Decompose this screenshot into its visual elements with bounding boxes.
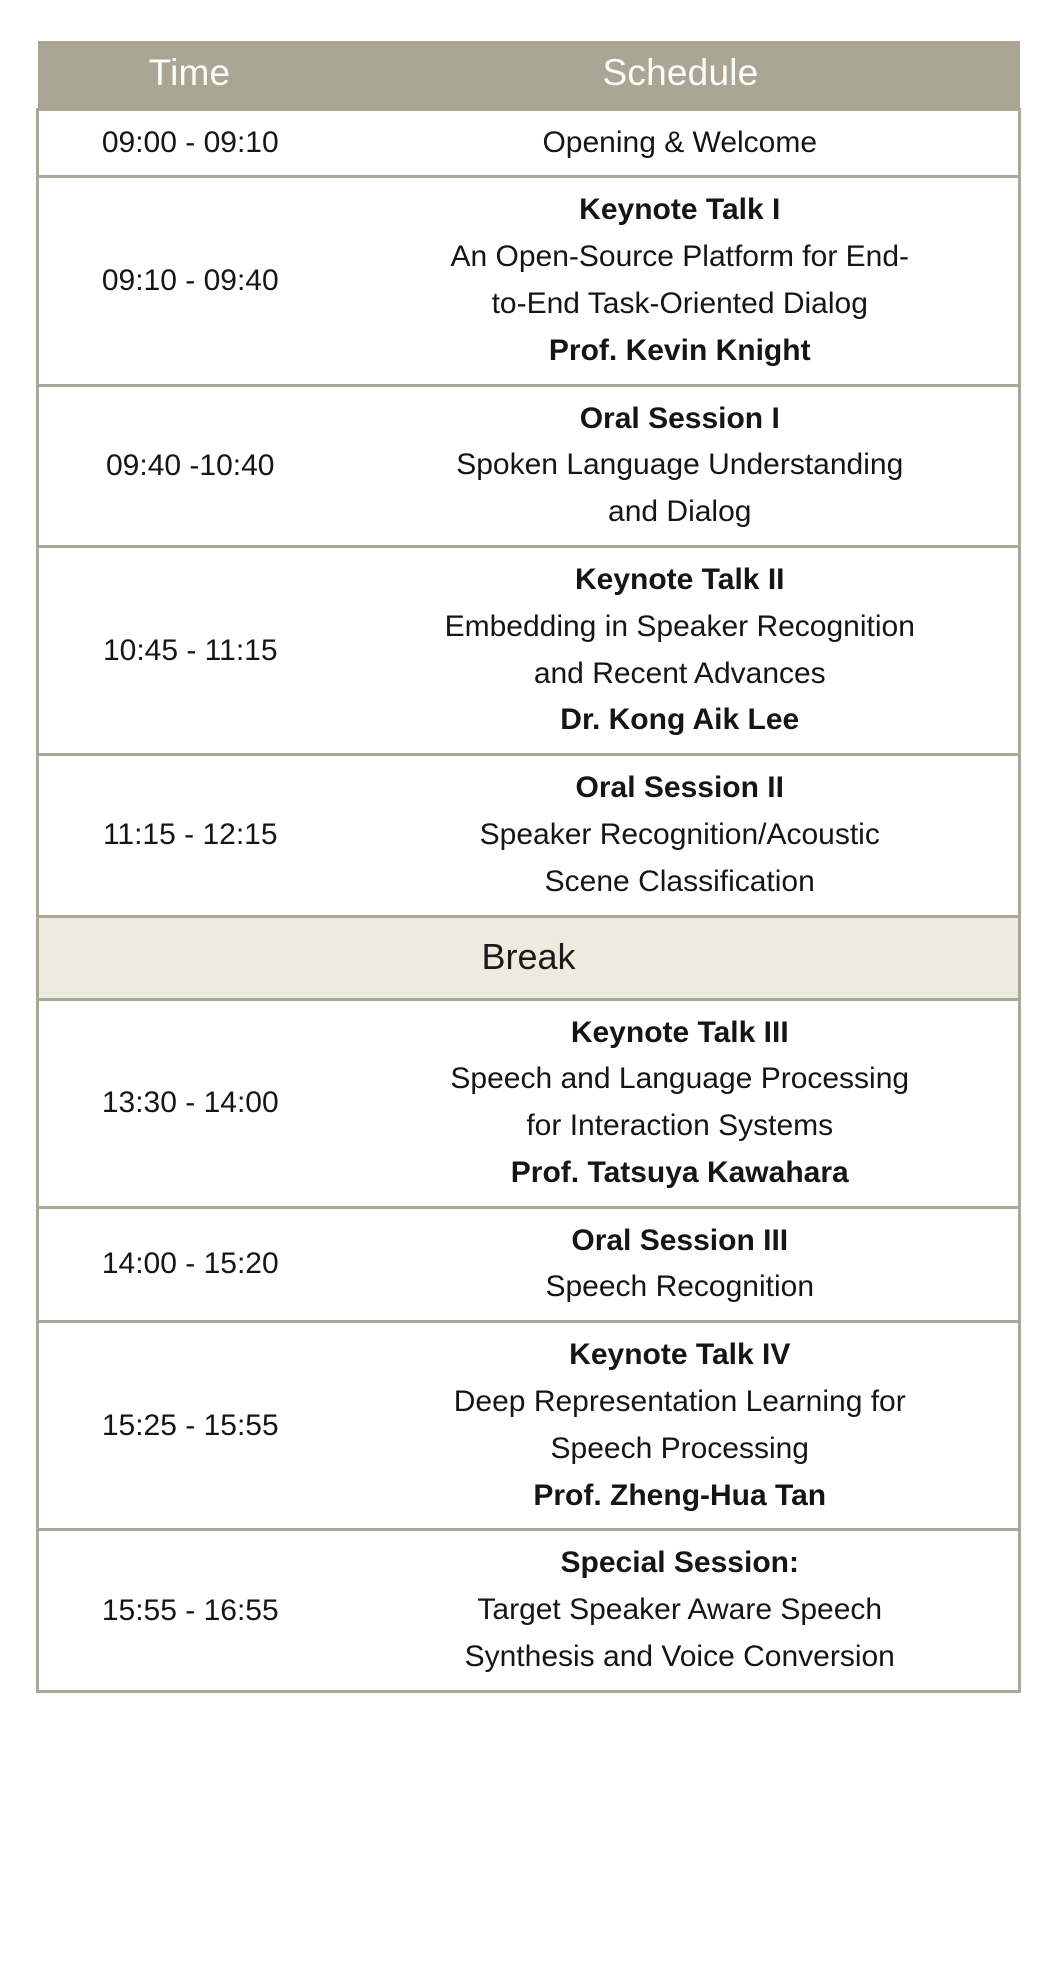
table-row: 09:00 - 09:10Opening & Welcome (38, 109, 1020, 177)
schedule-title-line: Prof. Kevin Knight (350, 328, 1011, 375)
table-body: 09:00 - 09:10Opening & Welcome09:10 - 09… (38, 109, 1020, 1691)
table-row: 15:55 - 16:55Special Session:Target Spea… (38, 1530, 1020, 1691)
column-header-time: Time (38, 41, 342, 109)
table-row: 15:25 - 15:55Keynote Talk IVDeep Represe… (38, 1322, 1020, 1530)
table-row: 14:00 - 15:20Oral Session IIISpeech Reco… (38, 1207, 1020, 1322)
cell-schedule: Oral Session IIISpeech Recognition (342, 1207, 1020, 1322)
table-row: 09:10 - 09:40Keynote Talk IAn Open-Sourc… (38, 177, 1020, 385)
cell-schedule: Special Session:Target Speaker Aware Spe… (342, 1530, 1020, 1691)
schedule-detail-line: Speech and Language Processing (350, 1056, 1011, 1103)
cell-time: 09:00 - 09:10 (38, 109, 342, 177)
table-row-break: Break (38, 916, 1020, 999)
column-header-schedule: Schedule (342, 41, 1020, 109)
schedule-page: Time Schedule 09:00 - 09:10Opening & Wel… (0, 0, 1056, 1974)
cell-time: 13:30 - 14:00 (38, 999, 342, 1207)
schedule-title-line: Keynote Talk III (350, 1010, 1011, 1057)
table-row: 09:40 -10:40Oral Session ISpoken Languag… (38, 385, 1020, 546)
schedule-title-line: Oral Session I (350, 396, 1011, 443)
cell-time: 09:40 -10:40 (38, 385, 342, 546)
schedule-detail-line: Deep Representation Learning for (350, 1379, 1011, 1426)
schedule-detail-line: and Recent Advances (350, 651, 1011, 698)
schedule-title-line: Prof. Zheng-Hua Tan (350, 1473, 1011, 1520)
schedule-detail-line: Speech Processing (350, 1426, 1011, 1473)
table-row: 11:15 - 12:15Oral Session IISpeaker Reco… (38, 755, 1020, 916)
schedule-detail-line: and Dialog (350, 489, 1011, 536)
cell-schedule: Keynote Talk IIEmbedding in Speaker Reco… (342, 546, 1020, 754)
cell-time: 14:00 - 15:20 (38, 1207, 342, 1322)
cell-schedule: Oral Session ISpoken Language Understand… (342, 385, 1020, 546)
cell-time: 11:15 - 12:15 (38, 755, 342, 916)
schedule-detail-line: Synthesis and Voice Conversion (350, 1634, 1011, 1681)
table-header: Time Schedule (38, 41, 1020, 109)
schedule-detail-line: Opening & Welcome (350, 120, 1011, 167)
schedule-detail-line: to-End Task-Oriented Dialog (350, 281, 1011, 328)
cell-schedule: Keynote Talk IAn Open-Source Platform fo… (342, 177, 1020, 385)
schedule-detail-line: Embedding in Speaker Recognition (350, 604, 1011, 651)
table-row: 10:45 - 11:15Keynote Talk IIEmbedding in… (38, 546, 1020, 754)
schedule-detail-line: Spoken Language Understanding (350, 442, 1011, 489)
cell-schedule: Oral Session IISpeaker Recognition/Acous… (342, 755, 1020, 916)
cell-schedule: Keynote Talk IVDeep Representation Learn… (342, 1322, 1020, 1530)
header-row: Time Schedule (38, 41, 1020, 109)
cell-schedule: Opening & Welcome (342, 109, 1020, 177)
cell-schedule: Keynote Talk IIISpeech and Language Proc… (342, 999, 1020, 1207)
schedule-title-line: Special Session: (350, 1540, 1011, 1587)
schedule-title-line: Oral Session II (350, 765, 1011, 812)
schedule-detail-line: for Interaction Systems (350, 1103, 1011, 1150)
schedule-detail-line: Scene Classification (350, 859, 1011, 906)
schedule-detail-line: An Open-Source Platform for End- (350, 234, 1011, 281)
schedule-title-line: Dr. Kong Aik Lee (350, 697, 1011, 744)
break-label: Break (38, 916, 1020, 999)
schedule-title-line: Oral Session III (350, 1218, 1011, 1265)
cell-time: 09:10 - 09:40 (38, 177, 342, 385)
table-row: 13:30 - 14:00Keynote Talk IIISpeech and … (38, 999, 1020, 1207)
schedule-detail-line: Speaker Recognition/Acoustic (350, 812, 1011, 859)
schedule-title-line: Keynote Talk I (350, 187, 1011, 234)
schedule-title-line: Keynote Talk IV (350, 1332, 1011, 1379)
cell-time: 15:55 - 16:55 (38, 1530, 342, 1691)
cell-time: 10:45 - 11:15 (38, 546, 342, 754)
schedule-detail-line: Speech Recognition (350, 1264, 1011, 1311)
schedule-detail-line: Target Speaker Aware Speech (350, 1587, 1011, 1634)
conference-schedule-table: Time Schedule 09:00 - 09:10Opening & Wel… (36, 41, 1021, 1693)
schedule-title-line: Prof. Tatsuya Kawahara (350, 1150, 1011, 1197)
cell-time: 15:25 - 15:55 (38, 1322, 342, 1530)
schedule-title-line: Keynote Talk II (350, 557, 1011, 604)
